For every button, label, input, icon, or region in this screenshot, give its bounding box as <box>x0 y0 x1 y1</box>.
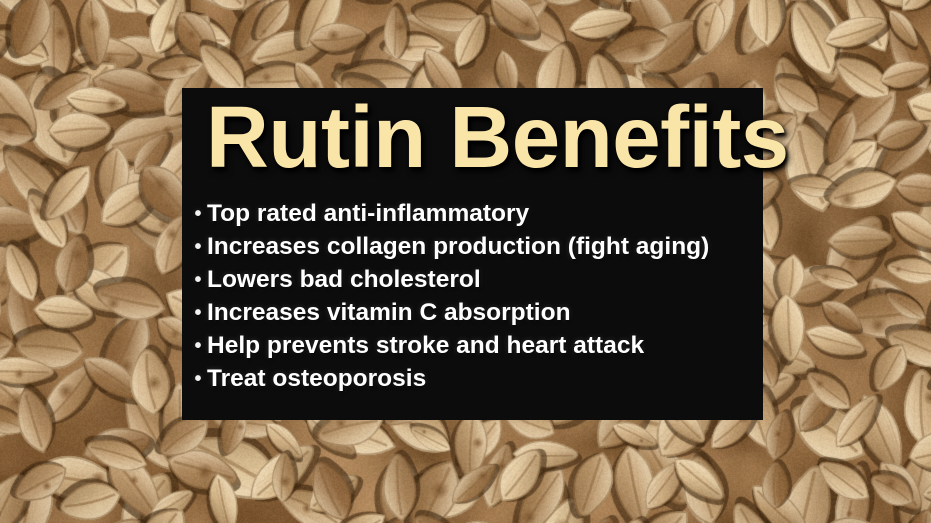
list-item: • Top rated anti-inflammatory <box>189 200 709 233</box>
list-item-label: Treat osteoporosis <box>207 365 426 393</box>
bullet-dot-icon: • <box>189 335 207 358</box>
list-item: • Lowers bad cholesterol <box>189 266 709 299</box>
list-item-label: Help prevents stroke and heart attack <box>207 332 644 360</box>
list-item: • Increases collagen production (fight a… <box>189 233 709 266</box>
bullet-dot-icon: • <box>189 368 207 391</box>
benefits-list: • Top rated anti-inflammatory • Increase… <box>189 200 709 398</box>
list-item: • Treat osteoporosis <box>189 365 709 398</box>
bullet-dot-icon: • <box>189 203 207 226</box>
slide-root: Rutin Benefits • Top rated anti-inflamma… <box>0 0 931 523</box>
list-item: • Increases vitamin C absorption <box>189 299 709 332</box>
bullet-dot-icon: • <box>189 236 207 259</box>
page-title: Rutin Benefits <box>206 94 789 181</box>
list-item-label: Lowers bad cholesterol <box>207 266 481 294</box>
bullet-dot-icon: • <box>189 302 207 325</box>
list-item-label: Increases collagen production (fight agi… <box>207 233 709 261</box>
list-item-label: Top rated anti-inflammatory <box>207 200 529 228</box>
bullet-dot-icon: • <box>189 269 207 292</box>
content-panel: Rutin Benefits • Top rated anti-inflamma… <box>182 88 763 420</box>
list-item: • Help prevents stroke and heart attack <box>189 332 709 365</box>
list-item-label: Increases vitamin C absorption <box>207 299 571 327</box>
